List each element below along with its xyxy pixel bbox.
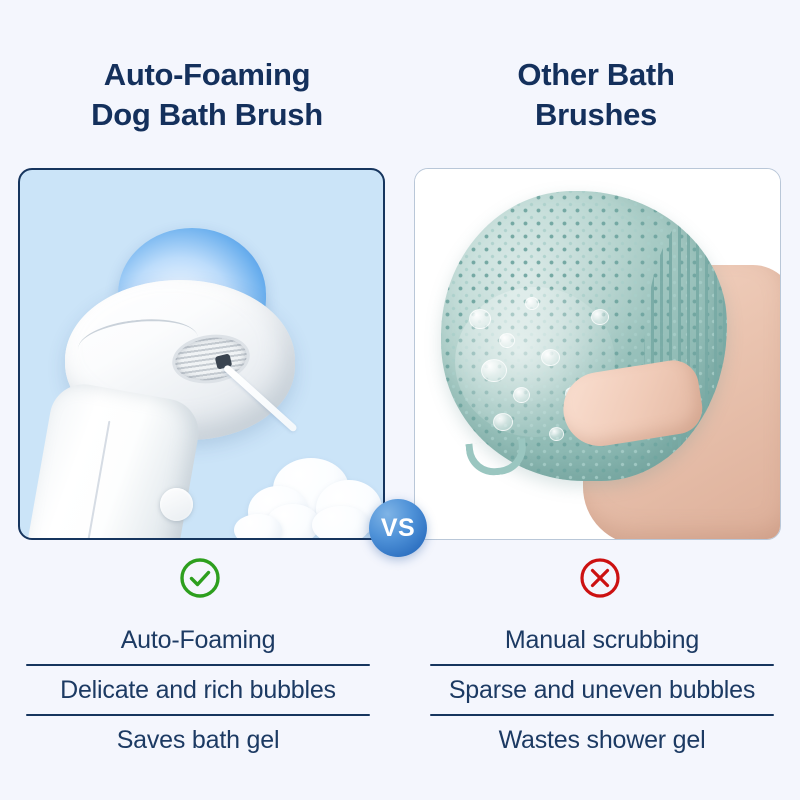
soap-bubble [549,427,564,441]
left-feature-list: Auto-Foaming Delicate and rich bubbles S… [0,618,400,762]
image-panels-row: VS [0,168,800,540]
left-title-line-1: Auto-Foaming [14,55,400,95]
soap-bubble [469,309,491,329]
soap-bubble [513,387,530,403]
vs-badge: VS [369,499,427,557]
left-product-title: Auto-Foaming Dog Bath Brush [0,55,400,134]
features-row: Auto-Foaming Delicate and rich bubbles S… [0,618,800,762]
soap-bubble [499,333,515,348]
right-product-title: Other Bath Brushes [400,55,800,134]
auto-foaming-brush-illustration [20,170,383,538]
right-feature-list: Manual scrubbing Sparse and uneven bubbl… [400,618,800,762]
feature-item: Manual scrubbing [426,618,778,662]
foam-blob [234,514,282,540]
right-title-line-2: Brushes [400,95,792,135]
check-circle-icon [178,556,222,600]
left-verdict-cell [0,556,400,600]
right-title-line-1: Other Bath [400,55,792,95]
feature-divider [430,664,774,666]
soap-bubble [481,359,507,382]
feature-item: Auto-Foaming [22,618,374,662]
soap-bubble [493,413,513,431]
feature-item: Sparse and uneven bubbles [426,668,778,712]
feature-divider [26,664,370,666]
feature-divider [26,714,370,716]
right-verdict-cell [400,556,800,600]
comparison-infographic: Auto-Foaming Dog Bath Brush Other Bath B… [0,0,800,800]
feature-item: Saves bath gel [22,718,374,762]
soap-bubble [525,297,539,310]
right-product-image-panel [414,168,781,540]
x-circle-icon [578,556,622,600]
soap-bubble [591,309,609,325]
feature-divider [430,714,774,716]
verdict-icons-row [0,556,800,600]
left-title-line-2: Dog Bath Brush [14,95,400,135]
feature-item: Delicate and rich bubbles [22,668,374,712]
silicone-brush-photo [415,169,780,539]
feature-item: Wastes shower gel [426,718,778,762]
foam-blob [312,506,370,540]
soap-bubble [541,349,560,366]
headings-row: Auto-Foaming Dog Bath Brush Other Bath B… [0,55,800,134]
left-product-image-panel [18,168,385,540]
